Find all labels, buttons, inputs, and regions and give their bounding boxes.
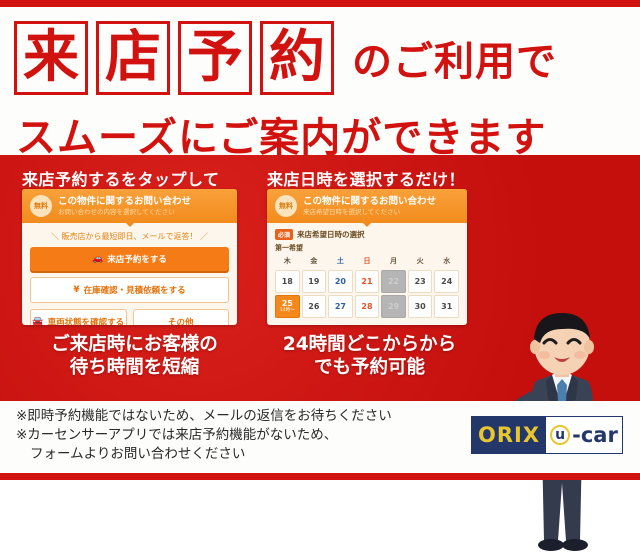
orix-wordmark: ORIX [472,417,546,453]
calendar-screen-mockup: 無料 この物件に関するお問い合わせ 来店希望日時を選択してください 必須 来店希… [267,189,467,325]
inquiry-mock-header: 無料 この物件に関するお問い合わせ お問い合わせの内容を選択してください [22,189,237,223]
footer-note-3: フォームよりお問い合わせください [30,445,245,465]
calendar-day-26[interactable]: 26 [302,295,327,318]
bottom-red-bar [0,473,640,480]
calendar-weekday-日: 日 [355,256,380,268]
calendar-day-number: 18 [282,277,293,286]
calendar-day-number: 22 [388,277,399,286]
vehicle-condition-button[interactable]: 🚘 車両状態を確認する [30,309,127,325]
calendar-day-number: 25 [282,299,293,308]
kanji-box-1: 来 [14,21,88,95]
other-button[interactable]: その他 [133,309,230,325]
kanji-box-3: 予 [178,21,252,95]
calendar-mock-header: 無料 この物件に関するお問い合わせ 来店希望日時を選択してください [267,189,467,223]
calendar-day-number: 28 [361,302,372,311]
calendar-day-29: 29 [381,295,406,318]
header-notch [125,222,135,227]
calendar-weekday-火: 火 [408,256,433,268]
headline-row-1: 来 店 予 約 のご利用で [14,21,557,95]
calendar-section-label: 来店希望日時の選択 [297,229,365,240]
car-icon: 🚗 [92,254,103,264]
calendar-day-number: 26 [308,302,319,311]
footer-note-1: ※即時予約機能ではないため、メールの返信をお待ちください [16,407,392,427]
calendar-day-time: 14時～ [280,309,295,314]
calendar-day-number: 20 [335,277,346,286]
vehicle-condition-label: 車両状態を確認する [48,316,125,325]
header-notch [362,222,372,227]
calendar-day-31[interactable]: 31 [434,295,459,318]
right-panel-heading: 来店日時を選択するだけ！ [267,166,465,190]
top-red-bar [0,0,640,7]
calendar-weekday-水: 水 [434,256,459,268]
calendar-weekday-金: 金 [302,256,327,268]
calendar-weekday-土: 土 [328,256,353,268]
calendar-day-number: 31 [441,302,452,311]
inquiry-screen-mockup: 無料 この物件に関するお問い合わせ お問い合わせの内容を選択してください ＼ 販… [22,189,237,325]
calendar-weekday-木: 木 [275,256,300,268]
inquiry-mock-subtitle: お問い合わせの内容を選択してください [58,208,191,216]
stock-estimate-button[interactable]: ¥ 在庫確認・見積依頼をする [30,277,229,303]
calendar-mock-title: この物件に関するお問い合わせ [303,196,436,208]
calendar-day-number: 19 [308,277,319,286]
calendar-day-number: 21 [361,277,372,286]
footer-section: ※即時予約機能ではないため、メールの返信をお待ちください ※カーセンサーアプリで… [0,401,640,473]
calendar-day-number: 23 [415,277,426,286]
yen-icon: ¥ [73,285,79,295]
inquiry-mock-title: この物件に関するお問い合わせ [58,196,191,208]
calendar-grid[interactable]: 木金土日月火水181920212223242514時～262728293031 [275,256,459,318]
u-circle-icon: u [550,425,570,445]
calendar-day-28[interactable]: 28 [355,295,380,318]
left-caption: ご来店時にお客様の 待ち時間を短縮 [12,333,257,379]
calendar-day-22: 22 [381,270,406,293]
calendar-day-19[interactable]: 19 [302,270,327,293]
required-badge: 必須 [275,229,293,240]
orix-ucar-logo: ORIX u-car [471,416,623,454]
calendar-day-18[interactable]: 18 [275,270,300,293]
calendar-day-24[interactable]: 24 [434,270,459,293]
calendar-day-23[interactable]: 23 [408,270,433,293]
calendar-day-21[interactable]: 21 [355,270,380,293]
secondary-button-row: 🚘 車両状態を確認する その他 [30,309,229,325]
ucar-suffix: -car [572,423,618,447]
left-panel-heading: 来店予約するをタップして [22,166,220,190]
calendar-day-number: 30 [415,302,426,311]
calendar-day-25[interactable]: 2514時～ [275,295,300,318]
calendar-day-20[interactable]: 20 [328,270,353,293]
calendar-day-number: 27 [335,302,346,311]
stock-estimate-label: 在庫確認・見積依頼をする [84,284,186,296]
kanji-box-2: 店 [96,21,170,95]
calendar-day-30[interactable]: 30 [408,295,433,318]
calendar-body: 必須 来店希望日時の選択 第一希望 木金土日月火水181920212223242… [267,223,467,318]
calendar-mock-subtitle: 来店希望日時を選択してください [303,208,436,216]
right-caption-line-2: でも予約可能 [262,356,477,379]
right-caption-line-1: 24時間どこからから [262,333,477,356]
other-label: その他 [168,316,194,325]
first-preference-label: 第一希望 [275,243,459,253]
headline-section: 来 店 予 約 のご利用で スムーズにご案内ができます [0,7,640,155]
promo-banner: 来 店 予 約 のご利用で スムーズにご案内ができます 来店予約するをタップして… [0,0,640,480]
car-state-icon: 🚘 [32,317,43,325]
calendar-weekday-月: 月 [381,256,406,268]
reserve-visit-button[interactable]: 🚗 来店予約をする [30,247,229,271]
footer-note-2: ※カーセンサーアプリでは来店予約機能がないため、 [16,426,337,446]
kanji-box-4: 約 [260,21,334,95]
feature-band: 来店予約するをタップして 来店日時を選択するだけ！ 無料 この物件に関するお問い… [0,155,640,401]
free-badge: 無料 [30,195,52,217]
left-caption-line-2: 待ち時間を短縮 [12,356,257,379]
ucar-wordmark: u-car [546,417,622,453]
free-badge: 無料 [275,195,297,217]
calendar-day-number: 24 [441,277,452,286]
calendar-section-row: 必須 来店希望日時の選択 [275,229,459,240]
calendar-day-number: 29 [388,302,399,311]
headline-tail: のご利用で [352,29,557,87]
right-caption: 24時間どこからから でも予約可能 [262,333,477,379]
calendar-day-27[interactable]: 27 [328,295,353,318]
left-caption-line-1: ご来店時にお客様の [12,333,257,356]
reserve-visit-label: 来店予約をする [107,253,167,265]
